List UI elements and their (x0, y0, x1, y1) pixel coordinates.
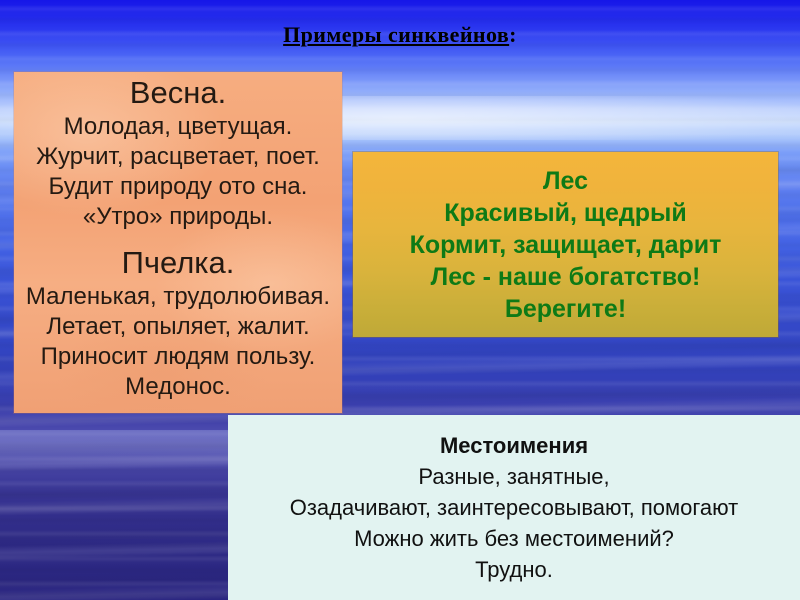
page-title-colon: : (509, 22, 517, 47)
cinquain-line: «Утро» природы. (83, 202, 273, 232)
cinquain-line: Можно жить без местоимений? (354, 523, 674, 554)
cinquain-panel-orange: Весна. Молодая, цветущая. Журчит, расцве… (14, 72, 342, 413)
page-title-text: Примеры синквейнов (283, 22, 509, 47)
cinquain-line: Лес - наше богатство! (431, 261, 701, 293)
cinquain-panel-cyan: Местоимения Разные, занятные, Озадачиваю… (228, 415, 800, 600)
cinquain-line: Приносит людям пользу. (41, 342, 316, 372)
cinquain-line: Разные, занятные, (418, 461, 609, 492)
cinquain-line: Берегите! (505, 293, 626, 325)
cinquain-heading-bee: Пчелка. (122, 244, 235, 282)
cinquain-line: Журчит, расцветает, поет. (36, 142, 320, 172)
cinquain-line: Будит природу ото сна. (49, 172, 308, 202)
cinquain-line: Трудно. (475, 554, 553, 585)
cinquain-line: Озадачивают, заинтересовывают, помогают (290, 492, 739, 523)
cinquain-heading-pronouns: Местоимения (440, 431, 588, 461)
cinquain-line: Летает, опыляет, жалит. (46, 312, 309, 342)
cinquain-line: Медонос. (125, 372, 231, 402)
cinquain-line: Молодая, цветущая. (64, 112, 293, 142)
slide-canvas: Примеры синквейнов: Весна. Молодая, цвет… (0, 0, 800, 600)
cinquain-line: Лес (543, 165, 588, 197)
cinquain-panel-yellow: Лес Красивый, щедрый Кормит, защищает, д… (353, 152, 778, 337)
cinquain-line: Маленькая, трудолюбивая. (26, 282, 330, 312)
cinquain-heading-spring: Весна. (130, 74, 226, 112)
page-title: Примеры синквейнов: (0, 22, 800, 48)
cinquain-line: Красивый, щедрый (444, 197, 687, 229)
cinquain-line: Кормит, защищает, дарит (410, 229, 722, 261)
